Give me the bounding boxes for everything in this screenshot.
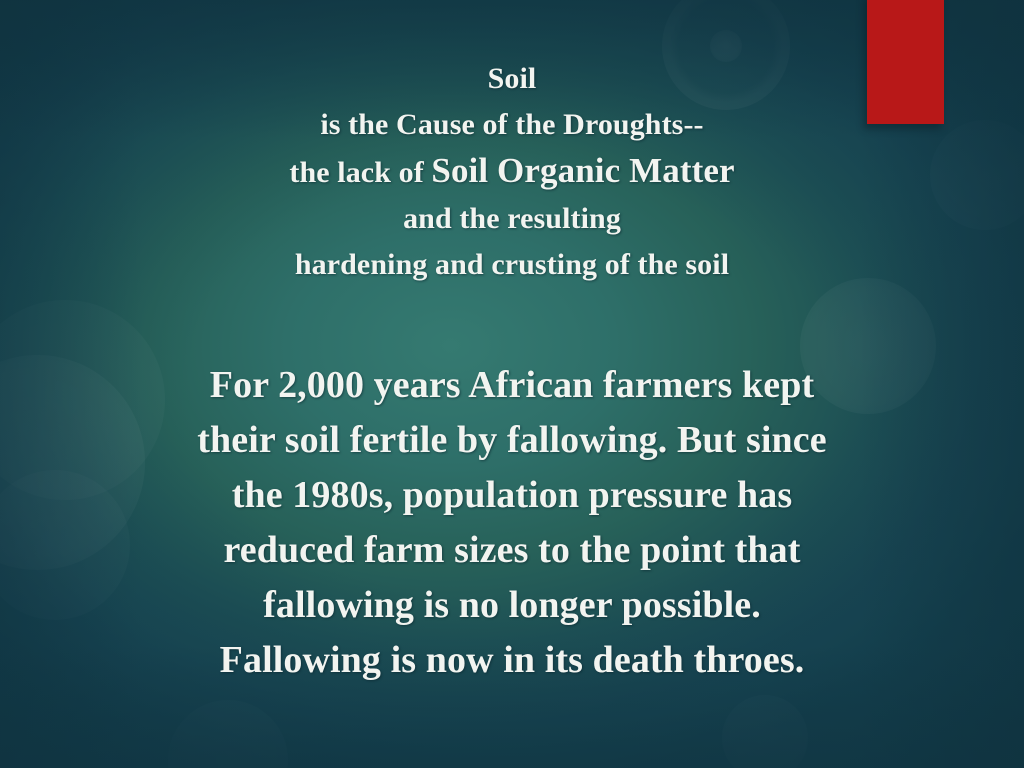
heading-line-3-emphasis: Soil Organic Matter [431, 151, 734, 190]
slide-body: For 2,000 years African farmers kept the… [62, 358, 962, 688]
body-line-4: reduced farm sizes to the point that [62, 523, 962, 578]
body-line-3: the 1980s, population pressure has [62, 468, 962, 523]
heading-line-2: is the Cause of the Droughts-- [62, 102, 962, 148]
body-line-1: For 2,000 years African farmers kept [62, 358, 962, 413]
body-line-2: their soil fertile by fallowing. But sin… [62, 413, 962, 468]
presentation-slide: Soil is the Cause of the Droughts-- the … [0, 0, 1024, 768]
body-line-5: fallowing is no longer possible. [62, 578, 962, 633]
heading-line-3: the lack of Soil Organic Matter [62, 148, 962, 196]
heading-line-5: hardening and crusting of the soil [62, 242, 962, 288]
heading-line-3-prefix: the lack of [289, 156, 431, 189]
heading-line-4: and the resulting [62, 196, 962, 242]
slide-text-area: Soil is the Cause of the Droughts-- the … [0, 0, 1024, 768]
heading-line-1: Soil [62, 56, 962, 102]
body-line-6: Fallowing is now in its death throes. [62, 633, 962, 688]
slide-heading: Soil is the Cause of the Droughts-- the … [62, 56, 962, 288]
